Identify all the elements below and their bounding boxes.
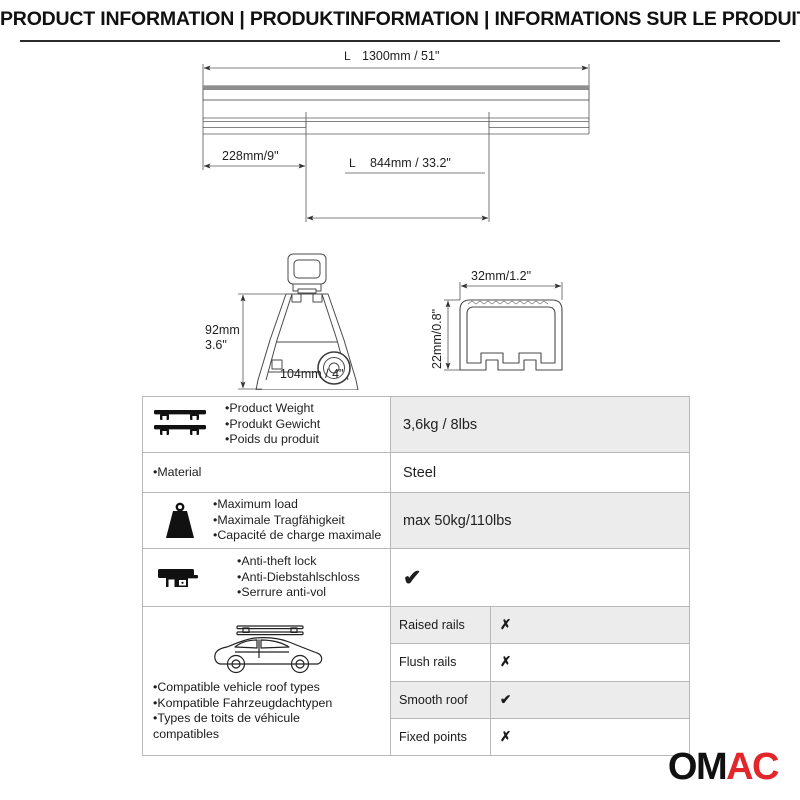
dimension-span-prefix: L <box>349 156 356 170</box>
label-line: compatibles <box>153 727 332 743</box>
label-line: •Poids du produit <box>225 432 386 448</box>
row-label-texts: •Maximum load •Maximale Tragfähigkeit •C… <box>211 497 386 544</box>
dimension-overall-value: 1300mm / 51" <box>362 49 439 63</box>
specifications-table: •Product Weight •Produkt Gewicht •Poids … <box>142 396 690 756</box>
row-label-texts: •Compatible vehicle roof types •Kompatib… <box>151 680 332 742</box>
roof-type-row-fixed-points: Fixed points ✗ <box>391 719 689 755</box>
roof-type-name: Smooth roof <box>391 682 491 718</box>
label-line: •Kompatible Fahrzeugdachtypen <box>153 696 332 712</box>
roof-type-mark: ✔ <box>491 692 511 708</box>
label-line: •Anti-theft lock <box>237 554 386 570</box>
label-line: •Material <box>153 465 386 481</box>
dimension-end-offset-value: 228mm/9" <box>222 149 279 163</box>
dimension-span-value: 844mm / 33.2" <box>370 156 451 170</box>
page-header: PRODUCT INFORMATION | PRODUKTINFORMATION… <box>0 0 800 42</box>
row-value-maximum-load: max 50kg/110lbs <box>391 493 689 548</box>
row-label-cell: •Compatible vehicle roof types •Kompatib… <box>143 607 391 755</box>
technical-drawing: L 1300mm / 51" <box>0 42 800 390</box>
page-title: PRODUCT INFORMATION | PRODUKTINFORMATION… <box>0 8 800 31</box>
label-line: •Maximale Tragfähigkeit <box>213 513 386 529</box>
label-line: •Types de toits de véhicule <box>153 711 332 727</box>
roof-type-mark: ✗ <box>491 617 511 633</box>
table-row-roof-compatibility: •Compatible vehicle roof types •Kompatib… <box>143 607 689 755</box>
roof-type-name: Fixed points <box>391 719 491 755</box>
label-line: •Serrure anti-vol <box>237 585 386 601</box>
table-row-maximum-load: •Maximum load •Maximale Tragfähigkeit •C… <box>143 493 689 549</box>
label-line: •Anti-Diebstahlschloss <box>237 570 386 586</box>
logo-text-om: OM <box>668 746 726 788</box>
dimension-overall-prefix: L <box>344 49 351 63</box>
crossbars-icon <box>149 408 211 442</box>
lock-icon <box>149 563 211 593</box>
roof-type-row-smooth-roof: Smooth roof ✔ <box>391 682 689 719</box>
label-line: •Compatible vehicle roof types <box>153 680 332 696</box>
row-label-cell: •Material <box>143 453 391 492</box>
roof-type-name: Raised rails <box>391 607 491 643</box>
label-line: •Produkt Gewicht <box>225 417 386 433</box>
roof-type-name: Flush rails <box>391 644 491 680</box>
row-label-cell: •Product Weight •Produkt Gewicht •Poids … <box>143 397 391 452</box>
table-row-product-weight: •Product Weight •Produkt Gewicht •Poids … <box>143 397 689 453</box>
car-with-rack-icon <box>151 620 384 676</box>
dimension-foot-height-mm: 92mm <box>205 323 240 337</box>
weight-icon <box>149 501 211 541</box>
row-value-product-weight: 3,6kg / 8lbs <box>391 397 689 452</box>
row-label-texts: •Material <box>153 465 386 481</box>
label-line: •Capacité de charge maximale <box>213 528 386 544</box>
row-value-anti-theft-lock: ✔ <box>391 549 689 606</box>
roof-type-mark: ✗ <box>491 729 511 745</box>
row-label-cell: •Maximum load •Maximale Tragfähigkeit •C… <box>143 493 391 548</box>
row-label-cell: •Anti-theft lock •Anti-Diebstahlschloss … <box>143 549 391 606</box>
dimension-profile-width-value: 32mm/1.2" <box>471 269 531 283</box>
row-label-texts: •Product Weight •Produkt Gewicht •Poids … <box>211 401 386 448</box>
roof-type-row-raised-rails: Raised rails ✗ <box>391 607 689 644</box>
label-line: •Maximum load <box>213 497 386 513</box>
dimension-foot-width-value: 104mm / 4" <box>280 367 344 381</box>
roof-types-subtable: Raised rails ✗ Flush rails ✗ Smooth roof… <box>391 607 689 755</box>
roof-type-mark: ✗ <box>491 654 511 670</box>
table-row-material: •Material Steel <box>143 453 689 493</box>
label-line: •Product Weight <box>225 401 386 417</box>
dimension-profile-height-value: 22mm/0.8" <box>430 309 444 369</box>
roof-type-row-flush-rails: Flush rails ✗ <box>391 644 689 681</box>
logo-text-ac: AC <box>726 746 778 788</box>
dimension-foot-height-in: 3.6" <box>205 338 227 352</box>
table-row-anti-theft-lock: •Anti-theft lock •Anti-Diebstahlschloss … <box>143 549 689 607</box>
row-value-material: Steel <box>391 453 689 492</box>
omac-logo: OMAC <box>668 748 778 786</box>
row-label-texts: •Anti-theft lock •Anti-Diebstahlschloss … <box>211 554 386 601</box>
